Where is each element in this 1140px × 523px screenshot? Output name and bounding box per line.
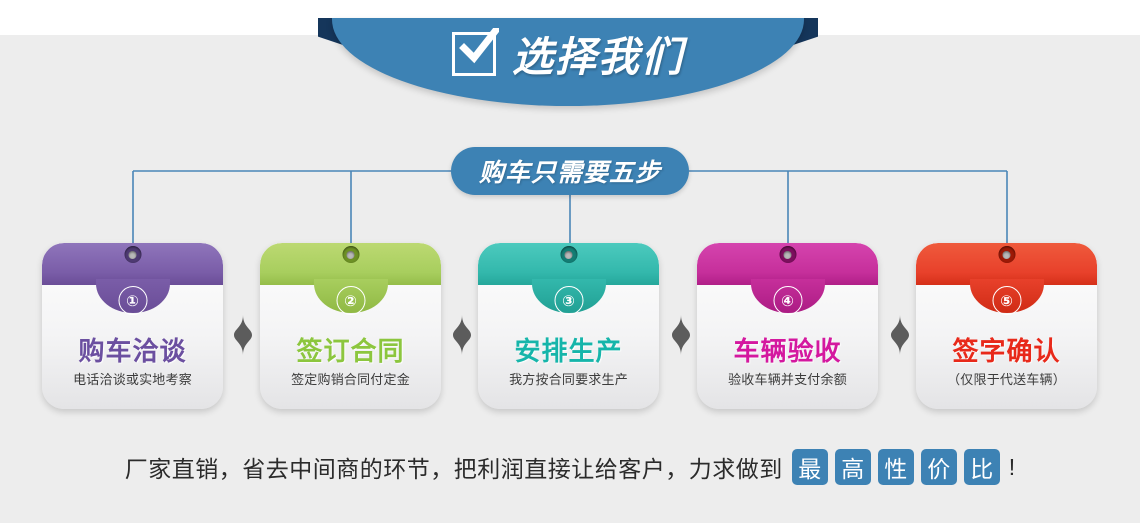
steps-pill-label: 购车只需要五步: [479, 153, 661, 189]
step-card-4[interactable]: ④ 车辆验收 验收车辆并支付余额: [697, 243, 878, 409]
infographic-canvas: 选择我们 购车只需要五步 ① 购车洽谈 电话洽谈或实地考察 ②: [0, 0, 1140, 523]
step-number-badge-1: ①: [118, 286, 147, 315]
footer-highlight-boxes: 最 高 性 价 比: [792, 449, 1000, 485]
footer-highlight-box: 价: [921, 449, 957, 485]
step-card-5[interactable]: ⑤ 签字确认 （仅限于代送车辆）: [916, 243, 1097, 409]
step-title-5: 签字确认: [916, 331, 1097, 368]
arrow-right-leaf-icon-1: [232, 315, 254, 355]
banner-title: 选择我们: [512, 23, 684, 83]
footer-line: 厂家直销，省去中间商的环节，把利润直接让给客户，力求做到 最 高 性 价 比 !: [0, 442, 1140, 492]
footer-exclamation: !: [1009, 454, 1015, 481]
checkbox-checked-icon: [452, 32, 496, 76]
arrow-right-leaf-icon-4: [889, 315, 911, 355]
step-title-4: 车辆验收: [697, 331, 878, 368]
step-card-2[interactable]: ② 签订合同 签定购销合同付定金: [260, 243, 441, 409]
step-title-3: 安排生产: [478, 331, 659, 368]
step-subtitle-2: 签定购销合同付定金: [260, 369, 441, 388]
step-card-grommet-5: [998, 246, 1015, 263]
step-card-grommet-4: [779, 246, 796, 263]
step-number-badge-3: ③: [554, 286, 583, 315]
step-card-grommet-2: [342, 246, 359, 263]
footer-highlight-box: 性: [878, 449, 914, 485]
arrow-right-leaf-icon-2: [451, 315, 473, 355]
step-card-3[interactable]: ③ 安排生产 我方按合同要求生产: [478, 243, 659, 409]
step-number-badge-4: ④: [773, 286, 802, 315]
step-subtitle-1: 电话洽谈或实地考察: [42, 369, 223, 388]
step-title-1: 购车洽谈: [42, 331, 223, 368]
footer-highlight-box: 最: [792, 449, 828, 485]
step-subtitle-4: 验收车辆并支付余额: [697, 369, 878, 388]
step-subtitle-5: （仅限于代送车辆）: [916, 369, 1097, 388]
banner-body: 选择我们: [332, 18, 804, 106]
footer-highlight-box: 高: [835, 449, 871, 485]
step-card-1[interactable]: ① 购车洽谈 电话洽谈或实地考察: [42, 243, 223, 409]
step-number-badge-2: ②: [336, 286, 365, 315]
steps-row: ① 购车洽谈 电话洽谈或实地考察 ② 签订合同 签定购销合同付定金: [0, 243, 1140, 418]
header-banner: 选择我们: [318, 18, 818, 108]
footer-highlight-box: 比: [964, 449, 1000, 485]
steps-pill-badge: 购车只需要五步: [451, 147, 689, 195]
step-card-grommet-1: [124, 246, 141, 263]
step-subtitle-3: 我方按合同要求生产: [478, 369, 659, 388]
step-card-grommet-3: [560, 246, 577, 263]
step-number-badge-5: ⑤: [992, 286, 1021, 315]
footer-text: 厂家直销，省去中间商的环节，把利润直接让给客户，力求做到: [125, 450, 783, 484]
step-title-2: 签订合同: [260, 331, 441, 368]
arrow-right-leaf-icon-3: [670, 315, 692, 355]
